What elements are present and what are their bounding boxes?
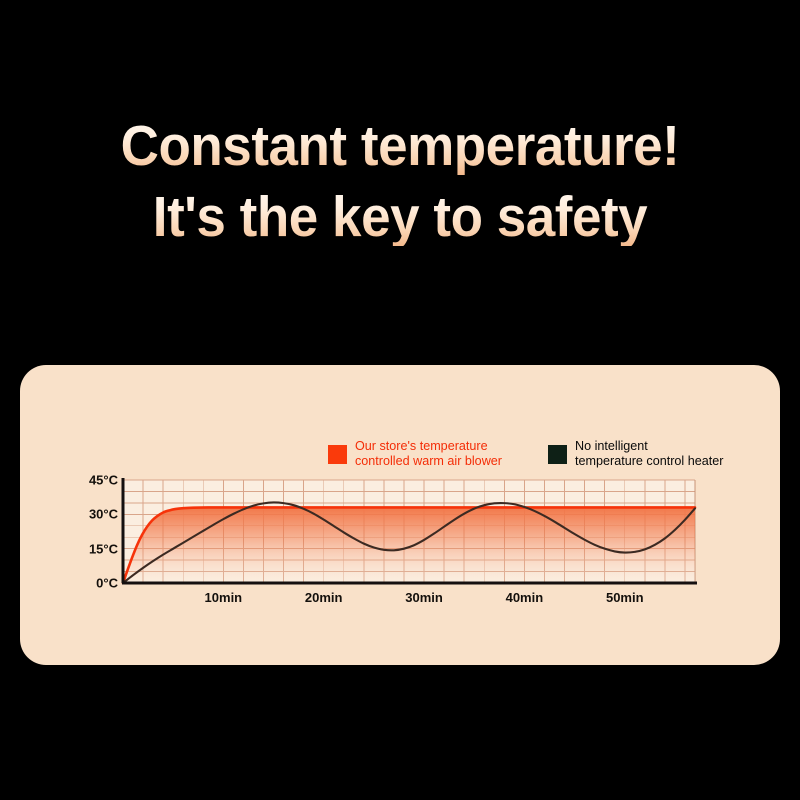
- x-tick-label: 50min: [606, 590, 644, 605]
- page-root: Constant temperature! It's the key to sa…: [0, 0, 800, 800]
- x-axis-labels: 10min20min30min40min50min: [20, 365, 780, 665]
- x-tick-label: 20min: [305, 590, 343, 605]
- x-tick-label: 30min: [405, 590, 443, 605]
- x-tick-label: 40min: [506, 590, 544, 605]
- page-title: Constant temperature! It's the key to sa…: [0, 118, 800, 246]
- temperature-line-chart: 0°C15°C30°C45°C 10min20min30min40min50mi…: [20, 365, 780, 665]
- x-tick-label: 10min: [205, 590, 243, 605]
- chart-card: Our store's temperature controlled warm …: [20, 365, 780, 665]
- title-line-2: It's the key to safety: [28, 189, 772, 246]
- title-line-1: Constant temperature!: [28, 118, 772, 175]
